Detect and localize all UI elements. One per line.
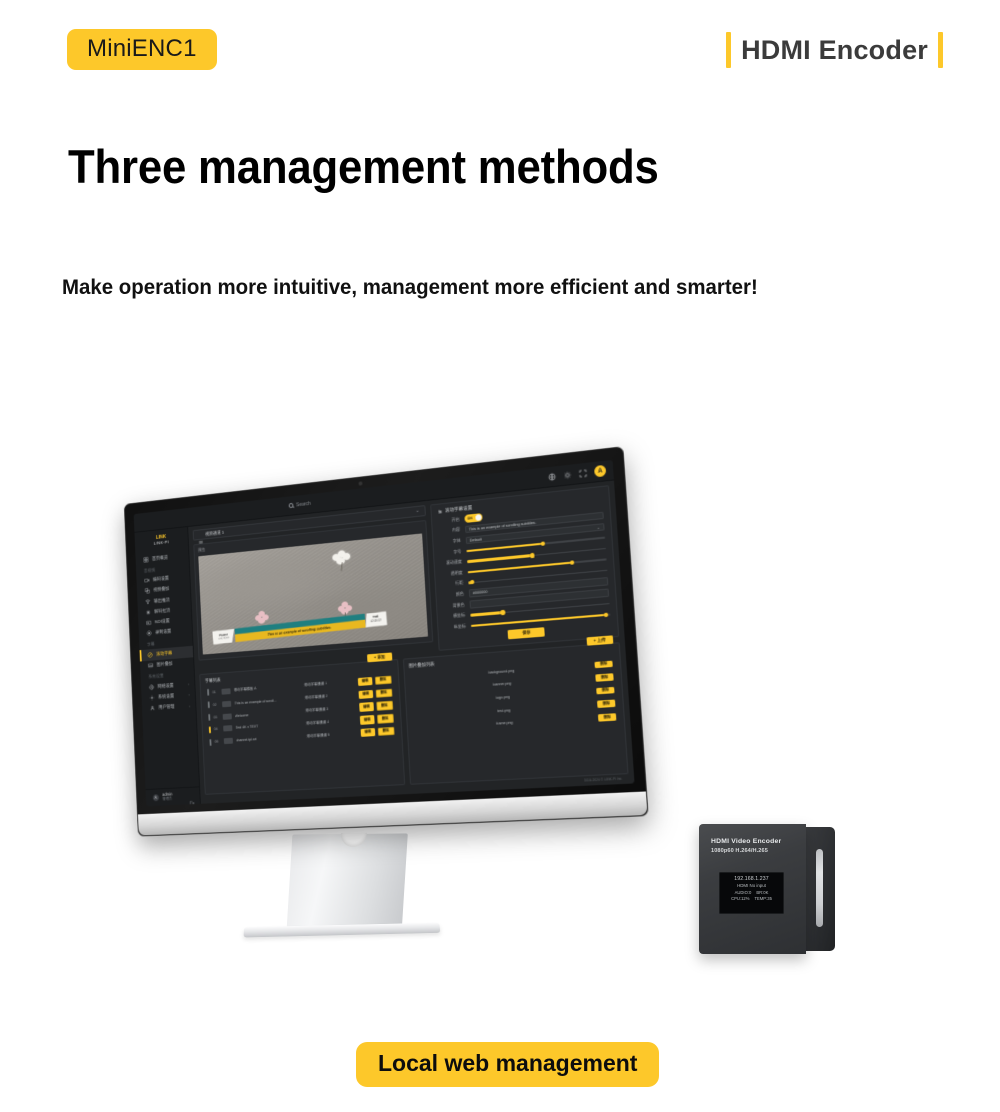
search-icon	[289, 503, 294, 508]
sidebar-item-label: 首页概览	[152, 554, 168, 561]
delete-button[interactable]: 删除	[375, 688, 392, 698]
setting-row-fontsize: 字号	[439, 534, 605, 557]
sidebar-user-role: 管理员	[163, 797, 173, 801]
row-index: 03	[213, 715, 219, 719]
delete-button[interactable]: 删除	[596, 687, 614, 695]
edit-button[interactable]: 编辑	[360, 715, 375, 724]
slider-fill	[467, 561, 572, 573]
slider-track	[470, 603, 610, 616]
subtitle-banner-right: TIME 12:20:37	[365, 611, 388, 627]
row-channel: 滚动字幕通道 1	[304, 680, 354, 689]
slider-knob[interactable]	[501, 610, 505, 615]
image-name: logo.png	[413, 689, 597, 705]
image-overlay-list-panel: + 上传 图片叠加列表 background.png 删除 bann	[402, 642, 628, 785]
x-position-slider[interactable]	[470, 600, 610, 619]
row-index: 04	[214, 727, 220, 731]
sidebar-user-meta: admin 管理员	[162, 793, 172, 801]
row-index: 02	[213, 702, 219, 706]
delete-button[interactable]: 删除	[598, 713, 616, 721]
setting-label: 颜色	[442, 592, 464, 598]
image-list-title: 图片叠加列表	[409, 647, 615, 668]
row-actions: 删除	[595, 660, 613, 668]
row-actions: 编辑 删除	[359, 701, 393, 712]
device-vent-slot-icon	[816, 849, 823, 927]
device-temperature: TEMP:35	[754, 897, 771, 901]
language-icon[interactable]	[548, 472, 557, 481]
row-marker-icon	[208, 714, 210, 721]
search-placeholder: Search	[296, 500, 311, 507]
font-select-value: Default	[469, 537, 481, 542]
device-brand-line2: 1080p60 H.264/H.265	[711, 847, 781, 855]
setting-label: 行距	[441, 581, 463, 587]
image-name: banner.png	[412, 676, 596, 693]
topbar-icon-group: A	[548, 465, 607, 483]
webui-main: 视频通道 1 ⌄ 预览	[188, 480, 634, 803]
overlay-icon	[145, 588, 150, 594]
slider-track	[468, 569, 607, 583]
image-name: background.png	[411, 663, 595, 680]
opacity-slider[interactable]	[467, 556, 607, 576]
gear-icon[interactable]	[563, 470, 572, 479]
font-select[interactable]: Default ⌄	[465, 523, 604, 545]
setting-label: 内容	[438, 528, 460, 535]
device-input-status: HDMI No input	[737, 884, 766, 888]
sidebar-item-label: 用户管理	[158, 704, 174, 711]
row-marker-icon	[208, 702, 210, 709]
row-name: Test 4K x TEXT	[235, 722, 302, 730]
subtitle-icon	[147, 652, 152, 658]
record-icon	[146, 630, 151, 636]
row-thumbnail	[223, 738, 232, 744]
color-input[interactable]: #000000	[469, 577, 609, 597]
list-item[interactable]: banner.png 删除	[410, 670, 616, 697]
sidebar-item-label: 输出推流	[154, 597, 170, 604]
list-item[interactable]: logo.png 删除	[410, 683, 616, 710]
sidebar-item-label: 录制设置	[155, 629, 171, 636]
ndi-icon	[146, 620, 151, 626]
chevron-right-icon: ›	[188, 682, 189, 687]
device-oled-row-audio: AUDIO:0 BR:0K	[735, 891, 769, 895]
setting-label: 横坐标	[443, 614, 465, 620]
device-bitrate: BR:0K	[756, 891, 768, 895]
row-thumbnail	[222, 713, 231, 719]
setting-label: 开启	[438, 517, 460, 524]
search-input[interactable]: Search	[289, 500, 311, 508]
row-channel: 滚动字幕通道 4	[306, 718, 357, 726]
sidebar-item-label: 系统设置	[158, 693, 174, 700]
encoder-device: HDMI Video Encoder 1080p60 H.264/H.265 1…	[699, 824, 835, 954]
toggle-knob-icon	[476, 514, 482, 520]
device-brand-line1: HDMI Video Encoder	[711, 837, 781, 847]
list-item[interactable]: frame.png 删除	[412, 710, 619, 736]
slider-track	[466, 537, 605, 552]
edit-button[interactable]: 编辑	[358, 690, 373, 699]
sidebar-logo-name: LINK-PI	[154, 540, 169, 546]
delete-button[interactable]: 删除	[377, 727, 394, 736]
row-actions: 删除	[596, 673, 614, 681]
delete-button[interactable]: 删除	[376, 701, 393, 710]
row-name: Welcome	[235, 709, 302, 717]
subtitle-list-rows: 01 滚动字幕模板 A 滚动字幕通道 1 编辑 删除	[205, 673, 396, 748]
save-row: 保存	[444, 622, 611, 644]
page-title: Three management methods	[68, 139, 659, 194]
main-bottom-row: + 添加 字幕列表 01 滚动字幕模板 A 滚动字幕通道	[199, 642, 628, 795]
setting-row-bgcolor: 背景色	[443, 589, 610, 611]
settings-icon	[149, 695, 154, 701]
row-marker-icon	[209, 726, 211, 733]
slider-track	[467, 559, 606, 573]
subtitle-banner-left: Flower LIVE NEWS	[212, 629, 235, 645]
settings-panel-title: 滚动字幕设置	[437, 491, 602, 515]
slider-fill	[468, 581, 472, 584]
list-icon	[198, 532, 203, 537]
image-icon	[148, 662, 153, 668]
row-thumbnail	[223, 725, 232, 731]
subtitle-banner-left-line2: LIVE NEWS	[219, 637, 230, 640]
row-channel: 滚动字幕通道 3	[305, 705, 355, 713]
row-actions: 编辑 删除	[360, 727, 394, 737]
list-item[interactable]: test.png 删除	[411, 697, 618, 723]
row-name: 滚动字幕模板 A	[234, 684, 301, 694]
accent-bar-left-icon	[726, 32, 731, 68]
webcam-icon	[359, 481, 363, 485]
subtitle-settings-panel: 滚动字幕设置 开启 ON	[430, 485, 619, 650]
product-tag-label: HDMI Encoder	[741, 37, 928, 64]
device-ip-address: 192.168.1.237	[734, 877, 768, 882]
sidebar-item-label: NDI设置	[155, 618, 170, 625]
monitor-mockup: Search A	[92, 468, 652, 998]
settings-column: 滚动字幕设置 开启 ON	[430, 485, 619, 650]
setting-label: 透明度	[441, 571, 463, 577]
product-tag: HDMI Encoder	[726, 30, 943, 70]
y-position-slider[interactable]	[471, 611, 611, 630]
line-spacing-slider[interactable]	[468, 566, 608, 586]
page-subtitle: Make operation more intuitive, managemen…	[62, 275, 758, 300]
sidebar-item-label: 网络设置	[157, 683, 173, 690]
fullscreen-icon[interactable]	[579, 468, 588, 477]
subtitle-list-panel: + 添加 字幕列表 01 滚动字幕模板 A 滚动字幕通道	[199, 659, 404, 795]
setting-row-speed: 滚动速度	[440, 545, 606, 568]
setting-label: 滚动速度	[440, 560, 462, 566]
setting-row-linespacing: 行距	[441, 566, 607, 588]
setting-row-opacity: 透明度	[441, 556, 607, 579]
pink-flower-decoration-right	[337, 601, 353, 616]
webui-body: LINK LINK-PI 首页概览 音视频	[134, 480, 634, 806]
toggle-label: ON	[467, 516, 472, 521]
setting-row-color: 颜色 #000000	[442, 577, 608, 599]
row-marker-icon	[209, 739, 211, 746]
device-cpu-usage: CPU:12%	[731, 897, 749, 901]
monitor-bezel: Search A	[124, 446, 649, 836]
row-actions: 编辑 删除	[360, 714, 394, 725]
row-channel: 滚动字幕通道 5	[306, 731, 357, 739]
delete-button[interactable]: 删除	[596, 673, 614, 681]
device-oled-row-system: CPU:12% TEMP:35	[731, 897, 772, 901]
subtitle-banner-middle: This is an example of scrolling subtitle…	[234, 614, 365, 643]
slider-fill	[470, 611, 503, 616]
chevron-right-icon: ›	[188, 693, 189, 698]
sidebar-item-label: 图片叠加	[157, 661, 173, 668]
header: MiniENC1 HDMI Encoder	[0, 0, 1000, 105]
sidebar-nav: 首页概览 音视频 编码设置 视频叠加	[135, 548, 199, 789]
setting-label: 字号	[440, 550, 462, 557]
scroll-speed-slider[interactable]	[467, 545, 606, 565]
caption-badge: Local web management	[356, 1042, 659, 1087]
accent-bar-right-icon	[938, 32, 943, 68]
logout-icon[interactable]	[189, 793, 195, 799]
delete-button[interactable]: 删除	[595, 660, 613, 668]
row-channel: 滚动字幕通道 2	[305, 692, 355, 700]
delete-button[interactable]: 删除	[377, 714, 394, 723]
setting-label: 背景色	[443, 603, 465, 609]
slider-fill	[471, 613, 606, 627]
slider-knob[interactable]	[541, 541, 546, 546]
device-branding: HDMI Video Encoder 1080p60 H.264/H.265	[711, 837, 781, 855]
white-flower-decoration	[332, 549, 354, 571]
device-side-panel	[804, 827, 835, 951]
content-input[interactable]: This is an example of scrolling subtitle…	[465, 512, 604, 534]
image-list-rows: background.png 删除 banner.png 删除	[409, 657, 619, 735]
setting-label: 纵坐标	[444, 624, 466, 630]
row-actions: 删除	[597, 700, 615, 708]
setting-row-y: 纵坐标	[444, 611, 611, 632]
slider-track	[467, 548, 606, 563]
setting-label: 字体	[439, 539, 461, 546]
row-thumbnail	[221, 688, 230, 694]
slider-fill	[466, 543, 543, 553]
setting-row-content: 内容 This is an example of scrolling subti…	[438, 512, 604, 537]
delete-button[interactable]: 删除	[375, 675, 392, 685]
sidebar-item-label: 滚动字幕	[156, 650, 172, 657]
add-subtitle-button[interactable]: + 添加	[367, 652, 392, 662]
font-size-slider[interactable]	[466, 534, 605, 555]
slider-knob[interactable]	[570, 560, 575, 565]
row-name: channel.tpl.srt	[236, 735, 303, 743]
setting-row-font: 字体 Default ⌄	[439, 523, 605, 547]
monitor-screen-assembly: Search A	[112, 438, 670, 858]
slider-knob[interactable]	[470, 580, 474, 585]
model-badge: MiniENC1	[67, 29, 217, 70]
slider-fill	[467, 554, 533, 563]
user-icon	[150, 705, 155, 711]
row-actions: 编辑 删除	[358, 675, 392, 686]
dashboard-icon	[143, 556, 148, 562]
setting-row-enable: 开启 ON	[438, 500, 604, 525]
preview-column: 视频通道 1 ⌄ 预览	[193, 505, 434, 669]
sliders-icon	[437, 509, 442, 515]
settings-panel-title-text: 滚动字幕设置	[445, 505, 473, 514]
delete-button[interactable]: 删除	[597, 700, 615, 708]
device-audio-level: AUDIO:0	[735, 891, 752, 895]
enable-toggle[interactable]: ON	[464, 513, 482, 522]
chevron-down-icon: ⌄	[597, 525, 601, 531]
row-index: 05	[214, 740, 220, 744]
avatar	[153, 794, 159, 801]
sidebar-item-label: 视频叠加	[153, 586, 169, 593]
sidebar-item-user-management[interactable]: 用户管理 ›	[142, 700, 196, 714]
edit-button[interactable]: 编辑	[360, 728, 375, 737]
list-item[interactable]: background.png 删除	[409, 657, 615, 685]
scrolling-subtitle-banner: Flower LIVE NEWS This is an example of s…	[212, 611, 387, 644]
pink-flower-decoration-left	[255, 611, 270, 626]
web-ui: Search A	[134, 460, 635, 807]
device-front-panel: HDMI Video Encoder 1080p60 H.264/H.265 1…	[699, 824, 806, 954]
channel-select-value-wrap: 视频通道 1	[198, 529, 224, 537]
sidebar-user-footer[interactable]: admin 管理员	[146, 786, 200, 806]
device-oled-display: 192.168.1.237 HDMI No input AUDIO:0 BR:0…	[719, 872, 784, 914]
save-button[interactable]: 保存	[508, 627, 545, 639]
row-actions: 删除	[596, 687, 614, 695]
slider-knob[interactable]	[604, 612, 609, 617]
row-index: 01	[212, 690, 218, 694]
preview-panel: 预览	[193, 520, 433, 660]
page-root: MiniENC1 HDMI Encoder Three management m…	[0, 0, 1000, 1112]
monitor-stand-base	[244, 923, 441, 938]
image-name: frame.png	[414, 716, 598, 731]
row-thumbnail	[222, 701, 231, 707]
edit-button[interactable]: 编辑	[359, 702, 374, 711]
edit-button[interactable]: 编辑	[358, 677, 373, 686]
row-actions: 编辑 删除	[358, 688, 392, 699]
row-actions: 删除	[598, 713, 616, 721]
chevron-right-icon: ›	[189, 703, 190, 708]
stream-icon	[145, 599, 150, 605]
slider-track	[471, 614, 611, 627]
decode-icon	[146, 609, 151, 615]
slider-knob[interactable]	[530, 553, 535, 558]
video-preview[interactable]: Flower LIVE NEWS This is an example of s…	[198, 533, 427, 654]
upload-image-button[interactable]: + 上传	[586, 635, 613, 645]
video-icon	[144, 578, 149, 584]
row-name: This is an example of scroll...	[234, 697, 301, 705]
row-marker-icon	[207, 689, 209, 696]
channel-select-value: 视频通道 1	[205, 529, 224, 537]
bg-color-input[interactable]	[469, 589, 609, 609]
avatar[interactable]: A	[594, 465, 606, 478]
subtitle-banner-right-line2: 12:20:37	[370, 619, 381, 623]
image-name: test.png	[413, 702, 597, 718]
sidebar-item-label: 编码设置	[153, 576, 169, 583]
setting-row-x: 横坐标	[443, 600, 610, 621]
sidebar-item-label: 解码拉流	[154, 607, 170, 614]
network-icon	[149, 684, 154, 690]
chevron-down-icon: ⌄	[415, 509, 419, 514]
